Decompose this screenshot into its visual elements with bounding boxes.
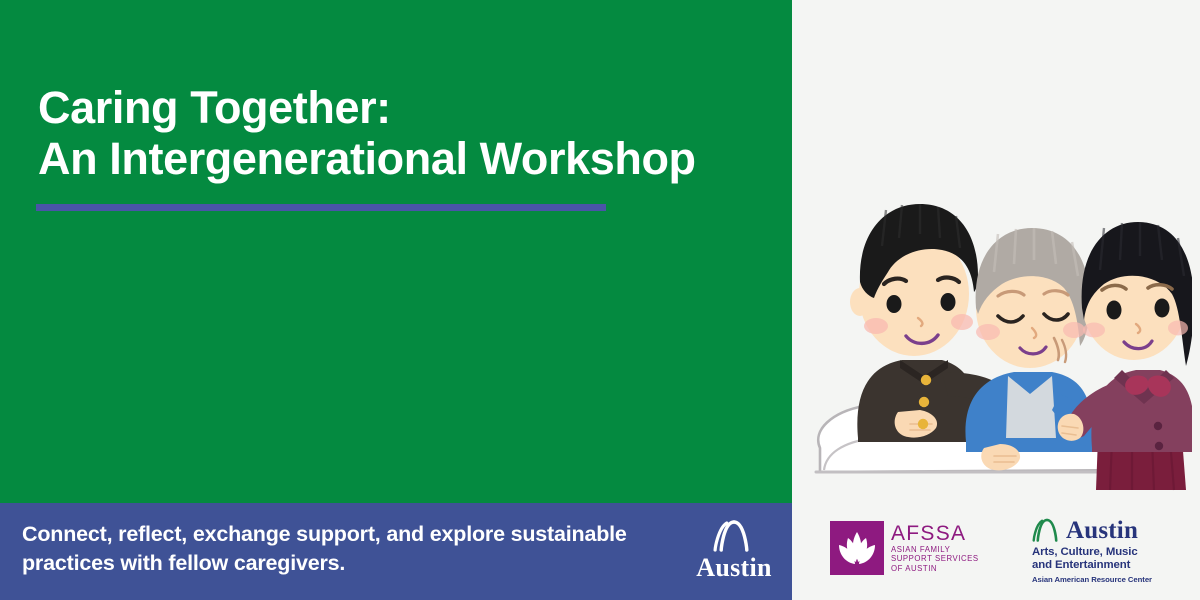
afssa-logo: AFSSA ASIAN FAMILY SUPPORT SERVICES OF A… bbox=[830, 521, 979, 575]
caregiving-illustration bbox=[802, 180, 1192, 500]
event-title-line-2: An Intergenerational Workshop bbox=[38, 133, 778, 184]
austin-arts-department: Asian American Resource Center bbox=[1032, 574, 1192, 585]
lotus-flower-icon bbox=[830, 521, 884, 575]
green-hero-panel: Caring Together: An Intergenerational Wo… bbox=[0, 0, 792, 503]
austin-arts-header: Austin bbox=[1032, 517, 1192, 543]
event-banner: Caring Together: An Intergenerational Wo… bbox=[0, 0, 1200, 600]
sponsor-logo-row: AFSSA ASIAN FAMILY SUPPORT SERVICES OF A… bbox=[792, 503, 1200, 600]
title-divider bbox=[36, 204, 606, 211]
afssa-name: AFSSA bbox=[891, 523, 979, 545]
austin-arch-icon bbox=[1032, 517, 1062, 543]
austin-city-wordmark: Austin bbox=[696, 554, 772, 582]
event-title-line-1: Caring Together: bbox=[38, 82, 778, 133]
afssa-sub-line-2: SUPPORT SERVICES bbox=[891, 554, 979, 563]
austin-arts-line-1: Arts, Culture, Music bbox=[1032, 546, 1192, 559]
afssa-text-block: AFSSA ASIAN FAMILY SUPPORT SERVICES OF A… bbox=[891, 523, 979, 573]
afssa-sub-line-1: ASIAN FAMILY bbox=[891, 545, 979, 554]
austin-arts-wordmark: Austin bbox=[1066, 518, 1138, 543]
event-title: Caring Together: An Intergenerational Wo… bbox=[38, 82, 778, 184]
austin-arts-line-2: and Entertainment bbox=[1032, 559, 1192, 572]
austin-arts-subtitle: Arts, Culture, Music and Entertainment A… bbox=[1032, 546, 1192, 585]
tagline-bar: Connect, reflect, exchange support, and … bbox=[0, 503, 792, 600]
austin-arts-logo: Austin Arts, Culture, Music and Entertai… bbox=[1032, 517, 1192, 585]
austin-city-logo: Austin bbox=[688, 519, 780, 589]
austin-arch-icon bbox=[712, 519, 756, 553]
tagline-text: Connect, reflect, exchange support, and … bbox=[22, 520, 642, 578]
afssa-sub-line-3: OF AUSTIN bbox=[891, 564, 979, 573]
